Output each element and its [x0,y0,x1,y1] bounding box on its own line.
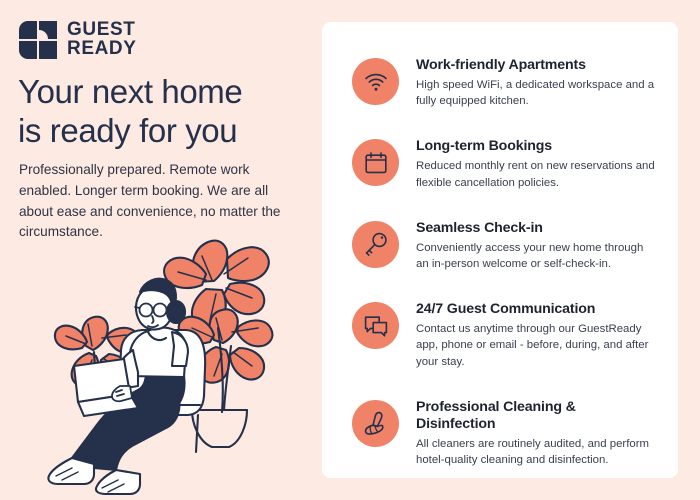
feature-icon-badge [352,302,399,349]
feature-title: Seamless Check-in [416,220,658,237]
calendar-icon [363,150,389,176]
feature-row[interactable]: Long-term Bookings Reduced monthly rent … [352,137,658,190]
feature-title: Long-term Bookings [416,138,658,155]
feature-icon-badge [352,58,399,105]
feature-row[interactable]: Professional Cleaning & Disinfection All… [352,398,658,468]
brand-logo[interactable]: GUEST READY [18,20,137,60]
feature-icon-badge [352,400,399,447]
feature-row[interactable]: Seamless Check-in Conveniently access yo… [352,219,658,272]
promo-page: GUEST READY Your next home is ready for … [0,0,700,500]
feature-icon-badge [352,221,399,268]
feature-description: Conveniently access your new home throug… [416,240,658,272]
feature-row[interactable]: 24/7 Guest Communication Contact us anyt… [352,300,658,370]
feature-icon-badge [352,139,399,186]
feature-title: Professional Cleaning & Disinfection [416,399,658,433]
feature-text: Professional Cleaning & Disinfection All… [416,398,658,468]
guestready-quadrant-logo-icon [18,20,58,60]
feature-description: All cleaners are routinely audited, and … [416,436,658,468]
feature-title: 24/7 Guest Communication [416,301,658,318]
feature-row[interactable]: Work-friendly Apartments High speed WiFi… [352,56,658,109]
feature-title: Work-friendly Apartments [416,57,658,74]
wifi-icon [363,69,389,95]
feature-text: Seamless Check-in Conveniently access yo… [416,219,658,272]
brand-wordmark: GUEST READY [67,21,137,58]
feature-description: Reduced monthly rent on new reservations… [416,158,658,190]
feature-description: Contact us anytime through our GuestRead… [416,321,658,370]
feature-description: High speed WiFi, a dedicated workspace a… [416,77,658,109]
hero-headline: Your next home is ready for you [18,73,308,151]
features-card: Work-friendly Apartments High speed WiFi… [322,22,678,478]
hero-column: GUEST READY Your next home is ready for … [0,0,320,500]
key-icon [363,231,389,257]
feature-text: Work-friendly Apartments High speed WiFi… [416,56,658,109]
chat-bubbles-icon [363,313,389,339]
feature-text: Long-term Bookings Reduced monthly rent … [416,137,658,190]
broom-icon [363,410,389,436]
brand-wordmark-line2: READY [67,40,137,59]
feature-text: 24/7 Guest Communication Contact us anyt… [416,300,658,370]
woman-working-on-laptop-illustration [26,228,314,496]
